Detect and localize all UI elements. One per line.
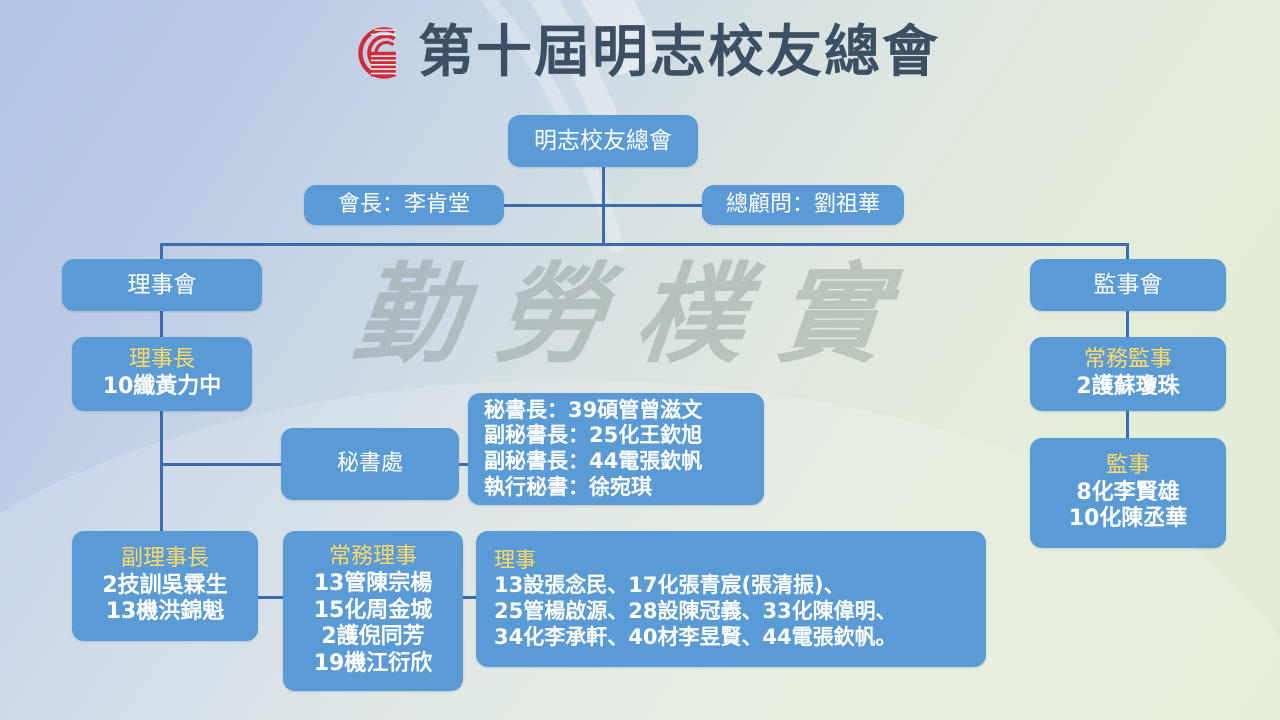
node-root-association[interactable]: 明志校友總會: [508, 115, 698, 167]
watermark-char: 實: [771, 261, 890, 369]
node-supervisory-board[interactable]: 監事會: [1030, 259, 1226, 311]
node-chairman[interactable]: 理事長 10纖黃力中: [72, 337, 252, 411]
node-directors[interactable]: 理事 13設張念民、17化張青宸(張清振)、 25管楊啟源、28設陳冠義、33化…: [476, 531, 986, 667]
node-title: 常務理事: [329, 544, 417, 571]
connector-chairman-spine: [160, 411, 163, 533]
connector-root-vertical: [602, 167, 605, 245]
node-label: 總顧問：劉祖華: [726, 192, 880, 219]
node-title: 副理事長: [121, 546, 209, 573]
connector-main-bar: [160, 243, 1128, 246]
node-member: 2技訓吳霖生: [102, 573, 227, 600]
node-member: 19機江衍欣: [314, 651, 433, 678]
node-member: 2護蘇瓊珠: [1076, 374, 1179, 401]
node-member: 15化周金城: [314, 598, 433, 625]
secretariat-line: 秘書長：39碩管曾滋文: [484, 398, 702, 424]
page-title: 第十屆明志校友總會: [418, 25, 940, 81]
node-title: 理事: [494, 548, 536, 574]
directors-line: 34化李承軒、40材李昱賢、44電張欽帆。: [494, 625, 897, 651]
node-board-of-directors[interactable]: 理事會: [62, 259, 262, 311]
secretariat-line: 執行秘書：徐宛琪: [484, 475, 652, 501]
watermark-calligraphy: 勤 勞 樸 實: [355, 255, 885, 375]
node-vice-chairmen[interactable]: 副理事長 2技訓吳霖生 13機洪錦魁: [72, 531, 258, 641]
node-supervisors[interactable]: 監事 8化李賢雄 10化陳丞華: [1030, 438, 1226, 548]
secretariat-line: 副秘書長：25化王欽旭: [484, 423, 702, 449]
slide-header: 第十屆明志校友總會: [0, 8, 1280, 98]
watermark-char: 樸: [631, 261, 750, 369]
node-label: 秘書處: [337, 451, 403, 478]
node-secretariat[interactable]: 秘書處: [281, 428, 459, 500]
mingchi-alumni-logo-icon: [340, 22, 402, 84]
node-title: 理事長: [129, 347, 195, 374]
connector-advisor-horizontal: [602, 204, 704, 207]
node-title: 監事: [1106, 453, 1150, 480]
watermark-char: 勤: [349, 261, 468, 369]
node-member: 10化陳丞華: [1069, 506, 1188, 533]
watermark-char: 勞: [490, 261, 609, 369]
node-member: 13管陳宗楊: [314, 571, 433, 598]
node-standing-directors[interactable]: 常務理事 13管陳宗楊 15化周金城 2護倪同芳 19機江衍欣: [283, 531, 463, 691]
node-label: 監事會: [1094, 271, 1163, 299]
slide-canvas: 勤 勞 樸 實 第十屆明志校友總會: [0, 0, 1280, 720]
node-standing-supervisor[interactable]: 常務監事 2護蘇瓊珠: [1030, 337, 1226, 411]
node-secretariat-members[interactable]: 秘書長：39碩管曾滋文 副秘書長：25化王欽旭 副秘書長：44電張欽帆 執行秘書…: [468, 393, 764, 505]
node-president[interactable]: 會長：李肯堂: [304, 185, 504, 225]
node-member: 13機洪錦魁: [106, 599, 225, 626]
node-member: 10纖黃力中: [103, 374, 222, 401]
node-label: 理事會: [128, 271, 197, 299]
node-label: 會長：李肯堂: [338, 192, 470, 219]
connector-secretariat-branch: [160, 463, 283, 466]
node-chief-advisor[interactable]: 總顧問：劉祖華: [702, 185, 904, 225]
connector-board-chairman: [160, 311, 163, 339]
node-title: 常務監事: [1084, 347, 1172, 374]
directors-line: 25管楊啟源、28設陳冠義、33化陳偉明、: [494, 599, 897, 625]
secretariat-line: 副秘書長：44電張欽帆: [484, 449, 702, 475]
node-member: 2護倪同芳: [321, 624, 424, 651]
connector-vicechair-standing: [256, 596, 285, 599]
connector-president-horizontal: [504, 204, 604, 207]
node-label: 明志校友總會: [534, 127, 672, 155]
connector-standing-supervisors: [1126, 411, 1129, 440]
connector-supervisory-standing: [1126, 311, 1129, 339]
directors-line: 13設張念民、17化張青宸(張清振)、: [494, 573, 845, 599]
node-member: 8化李賢雄: [1076, 480, 1179, 507]
